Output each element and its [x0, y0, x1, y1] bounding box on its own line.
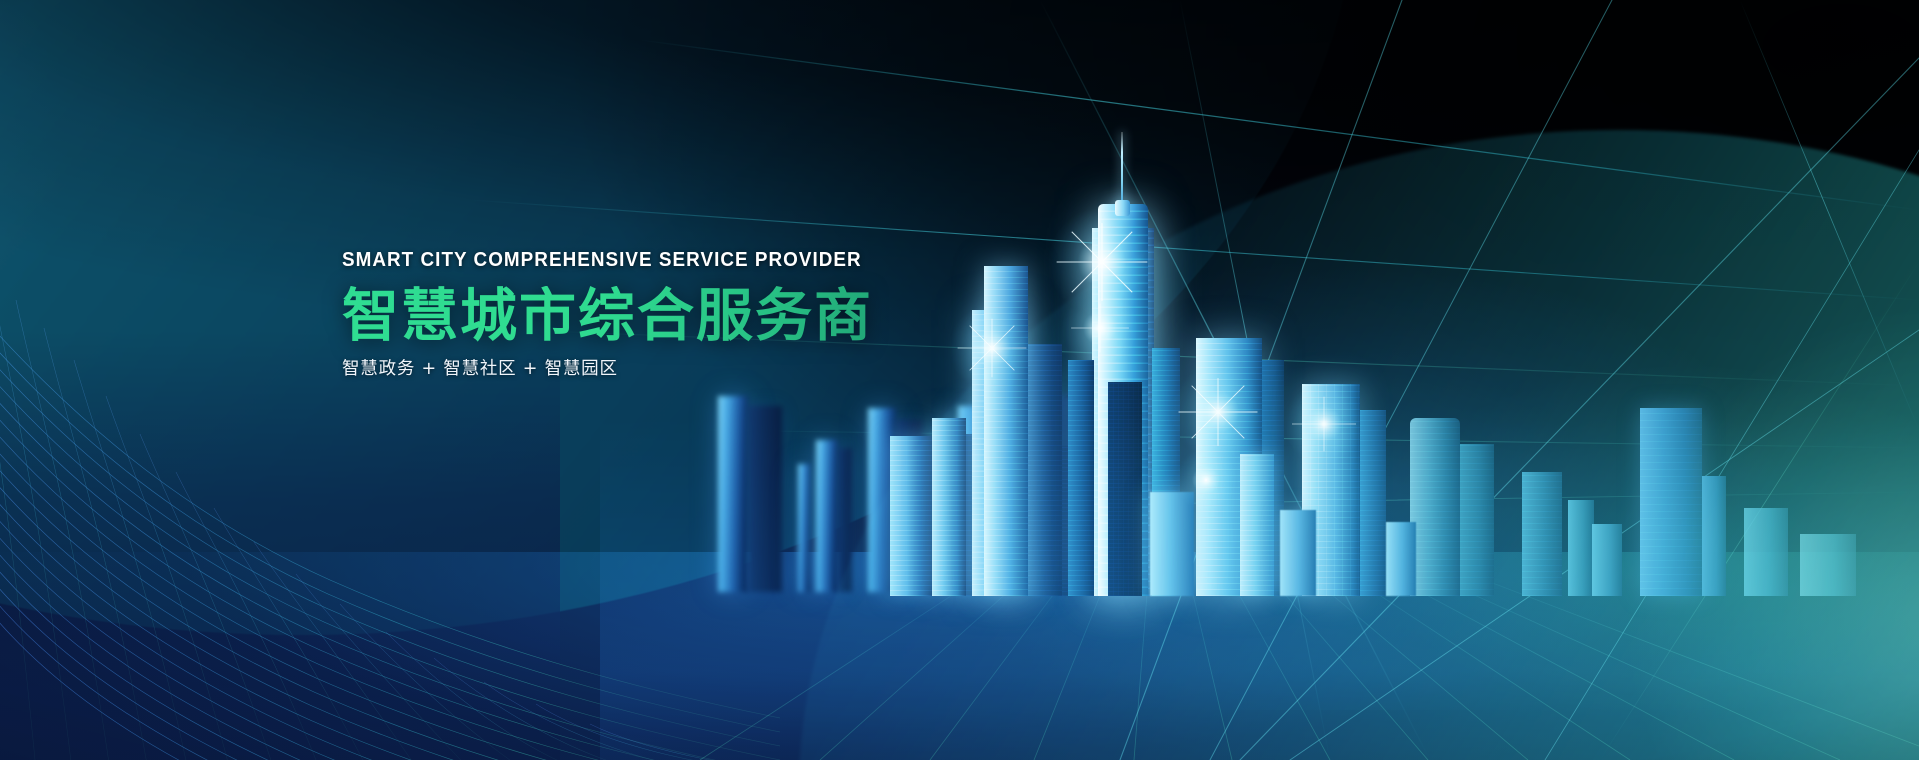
- banner-copy-block: SMART CITY COMPREHENSIVE SERVICE PROVIDE…: [342, 250, 1102, 379]
- eyebrow-english-tagline: SMART CITY COMPREHENSIVE SERVICE PROVIDE…: [342, 250, 1041, 271]
- subtitle-services: 智慧政务 + 智慧社区 + 智慧园区: [342, 361, 1102, 379]
- tower-spire-needle: [1121, 132, 1123, 204]
- page-title-headline: 智慧城市综合服务商: [342, 286, 1102, 348]
- smart-city-hero-banner: SMART CITY COMPREHENSIVE SERVICE PROVIDE…: [0, 0, 1919, 760]
